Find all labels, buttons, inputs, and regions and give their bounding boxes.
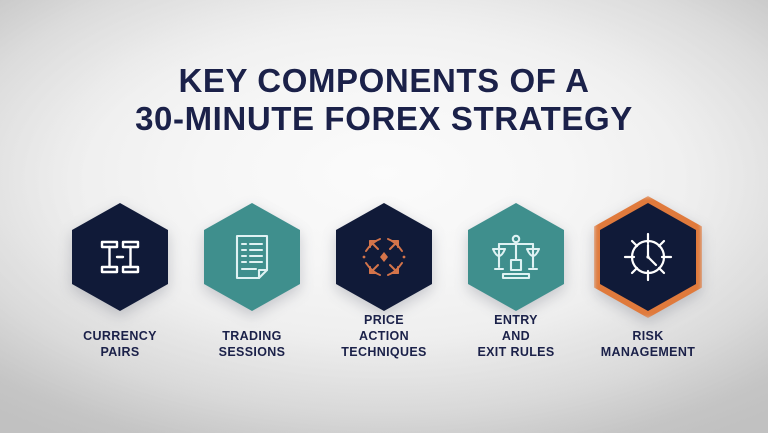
label-currency-pairs: CURRENCY PAIRS xyxy=(62,328,178,362)
hexagon-entry-and-exit-rules[interactable] xyxy=(468,203,564,311)
document-list-icon xyxy=(225,230,279,284)
component-item-risk-management[interactable] xyxy=(590,203,706,311)
hexagon-currency-pairs[interactable] xyxy=(72,203,168,311)
component-item-trading-sessions[interactable] xyxy=(194,203,310,311)
hexagon-risk-management[interactable] xyxy=(600,203,696,311)
label-trading-sessions: TRADING SESSIONS xyxy=(194,328,310,362)
infographic-slide: KEY COMPONENTS OF A 30-MINUTE FOREX STRA… xyxy=(0,0,768,433)
component-item-currency-pairs[interactable] xyxy=(62,203,178,311)
balance-scales-icon xyxy=(489,230,543,284)
price-action-burst-icon xyxy=(357,230,411,284)
component-item-price-action-techniques[interactable] xyxy=(326,203,442,311)
clock-crosshair-icon xyxy=(621,230,675,284)
hexagon-price-action-techniques[interactable] xyxy=(336,203,432,311)
label-price-action-techniques: PRICE ACTION TECHNIQUES xyxy=(326,312,442,362)
component-hexagon-row xyxy=(0,203,768,311)
component-item-entry-and-exit-rules[interactable] xyxy=(458,203,574,311)
label-risk-management: RISK MANAGEMENT xyxy=(590,328,706,362)
title-line-2: 30-MINUTE FOREX STRATEGY xyxy=(0,100,768,138)
page-title: KEY COMPONENTS OF A 30-MINUTE FOREX STRA… xyxy=(0,62,768,138)
component-label-row: CURRENCY PAIRS TRADING SESSIONS PRICE AC… xyxy=(0,312,768,362)
currency-pairs-icon xyxy=(93,230,147,284)
hexagon-trading-sessions[interactable] xyxy=(204,203,300,311)
title-line-1: KEY COMPONENTS OF A xyxy=(0,62,768,100)
label-entry-and-exit-rules: ENTRY AND EXIT RULES xyxy=(458,312,574,362)
